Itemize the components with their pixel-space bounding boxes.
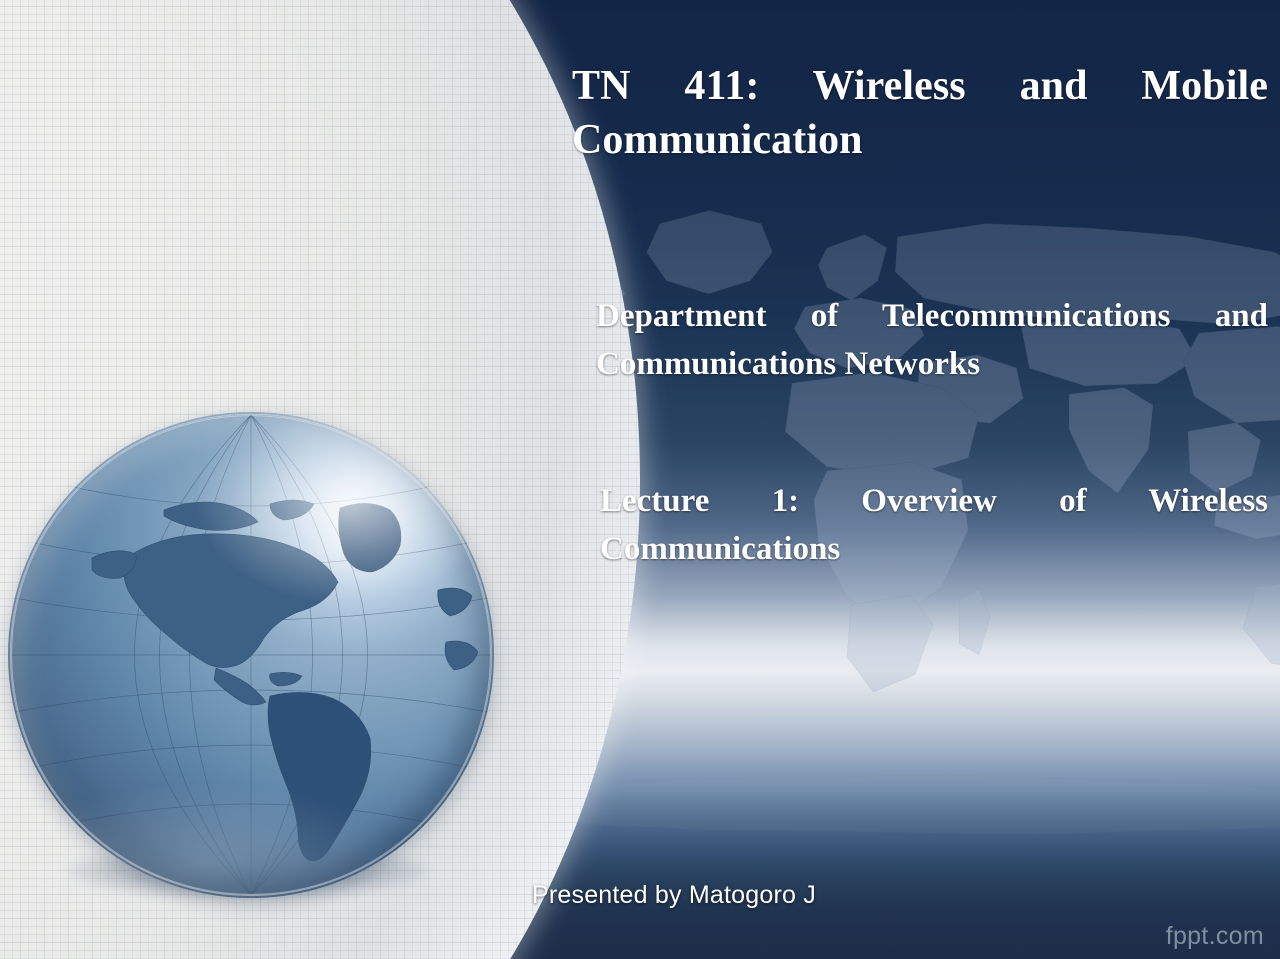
- presentation-slide: TN 411: Wireless and Mobile Communicatio…: [0, 0, 1280, 959]
- page-title: TN 411: Wireless and Mobile Communicatio…: [572, 60, 1268, 168]
- globe-sphere: [8, 412, 494, 898]
- lecture-text: Lecture 1: Overview of Wireless Communic…: [600, 478, 1268, 574]
- department-text: Department of Telecommunications and Com…: [596, 293, 1268, 389]
- globe-graphic: [8, 412, 494, 898]
- presenter-text: Presented by Matogoro J: [532, 881, 816, 910]
- fppt-watermark: fppt.com: [1166, 922, 1264, 951]
